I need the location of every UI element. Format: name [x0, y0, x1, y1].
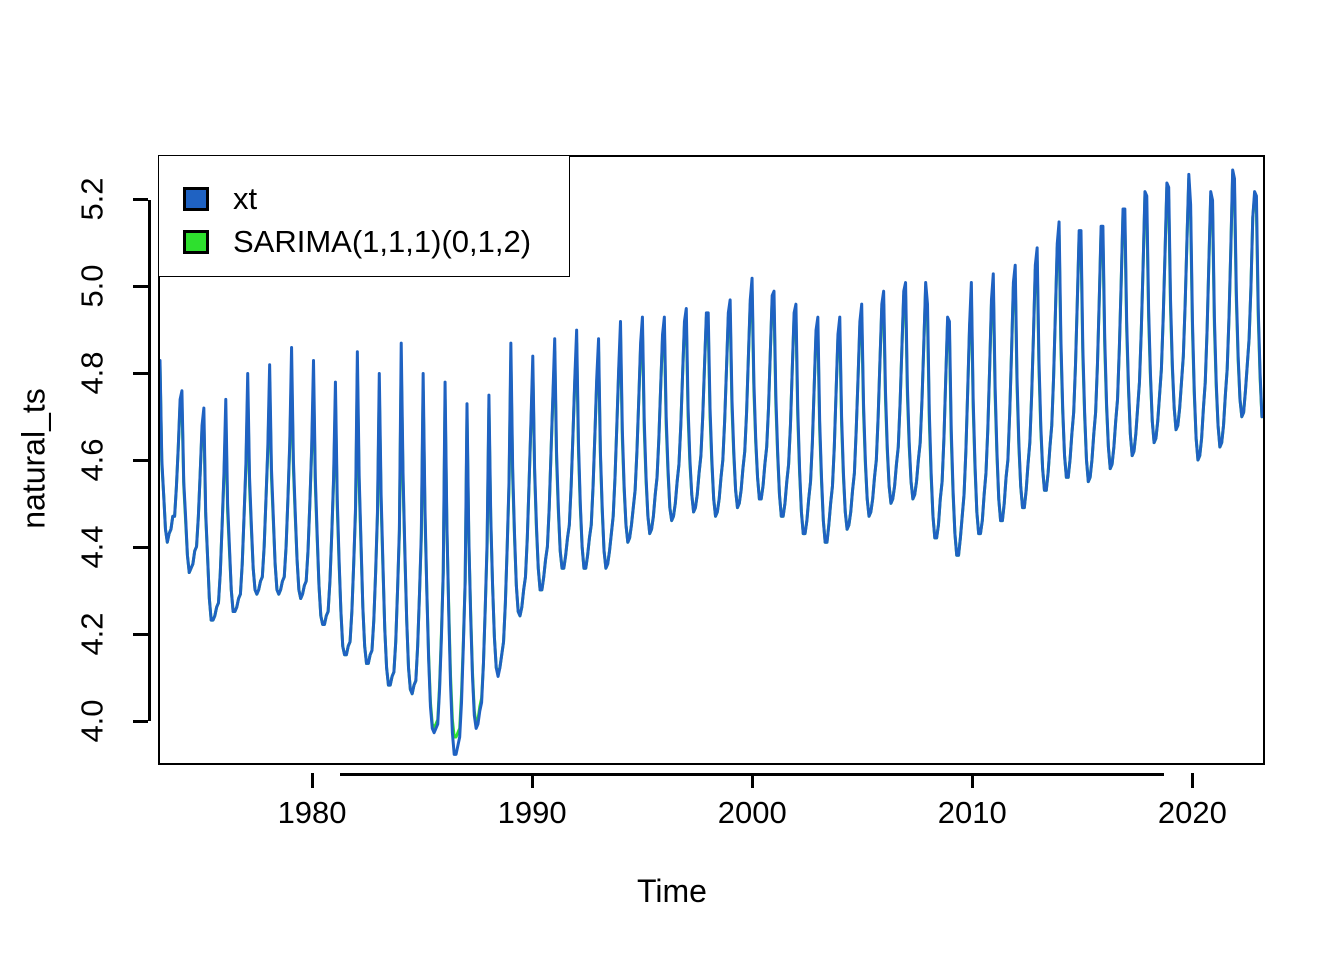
legend-item-sarima: SARIMA(1,1,1)(0,1,2): [183, 221, 569, 262]
x-axis-title: Time: [0, 873, 1344, 910]
y-tick-mark: [133, 720, 148, 723]
x-tick-mark: [751, 773, 754, 788]
x-tick-label: 1990: [452, 795, 612, 831]
y-axis-line: [148, 200, 151, 721]
legend-label-xt: xt: [233, 183, 257, 214]
legend: xt SARIMA(1,1,1)(0,1,2): [158, 155, 570, 277]
x-tick-mark: [1191, 773, 1194, 788]
legend-item-xt: xt: [183, 178, 569, 219]
legend-label-sarima: SARIMA(1,1,1)(0,1,2): [233, 226, 531, 257]
y-tick-label: 5.2: [58, 179, 128, 219]
y-tick-label: 4.8: [58, 353, 128, 393]
y-tick-mark: [133, 285, 148, 288]
x-tick-label: 2020: [1112, 795, 1272, 831]
x-tick-label: 2000: [672, 795, 832, 831]
chart-root: natural_ts 4.04.24.44.64.85.05.2 1980199…: [0, 0, 1344, 960]
x-tick-mark: [531, 773, 534, 788]
y-tick-label: 5.0: [58, 266, 128, 306]
x-tick-label: 2010: [892, 795, 1052, 831]
x-tick-mark: [971, 773, 974, 788]
y-tick-label: 4.6: [58, 440, 128, 480]
y-tick-label: 4.2: [58, 614, 128, 654]
x-tick-mark: [311, 773, 314, 788]
y-axis-title: natural_ts: [16, 339, 53, 579]
legend-swatch-xt: [183, 187, 209, 211]
y-tick-mark: [133, 546, 148, 549]
y-tick-mark: [133, 633, 148, 636]
y-tick-mark: [133, 372, 148, 375]
y-tick-mark: [133, 198, 148, 201]
x-tick-label: 1980: [232, 795, 392, 831]
y-tick-mark: [133, 459, 148, 462]
legend-swatch-sarima: [183, 230, 209, 254]
y-tick-label: 4.4: [58, 527, 128, 567]
y-tick-label: 4.0: [58, 701, 128, 741]
